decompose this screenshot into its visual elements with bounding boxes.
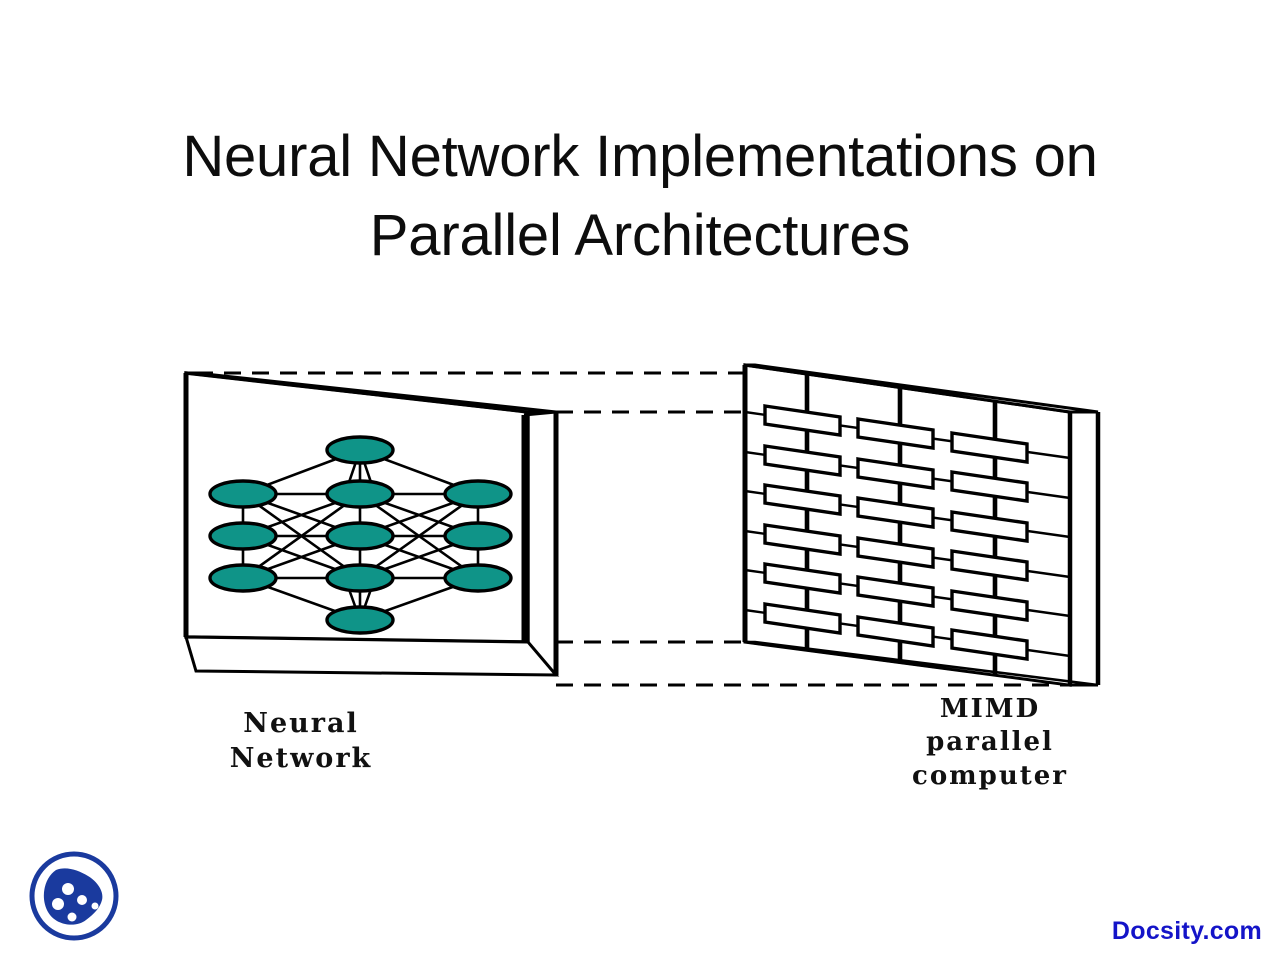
nn-panel-bottom-face xyxy=(186,637,556,675)
docsity-logo-icon xyxy=(26,848,122,944)
page-title-line-1: Neural Network Implementations on xyxy=(140,118,1140,197)
nn-node-top xyxy=(327,437,393,463)
logo-dot-5 xyxy=(92,903,99,910)
nn-node-mid-3 xyxy=(327,565,393,591)
nn-caption-line-2: Network xyxy=(230,743,373,774)
logo-dot-2 xyxy=(52,898,64,910)
nn-node-mid-2 xyxy=(327,523,393,549)
nn-node-left-1 xyxy=(210,481,276,507)
nn-node-left-3 xyxy=(210,565,276,591)
nn-node-right-3 xyxy=(445,565,511,591)
nn-node-bottom xyxy=(327,607,393,633)
nn-node-right-2 xyxy=(445,523,511,549)
neural-network-panel xyxy=(186,373,556,675)
page-title: Neural Network Implementations on Parall… xyxy=(140,118,1140,276)
logo-dot-4 xyxy=(68,913,77,922)
nn-node-left-2 xyxy=(210,523,276,549)
logo-dot-1 xyxy=(62,883,74,895)
mimd-panel-edge-caps xyxy=(1070,412,1098,685)
neural-network-caption: NeuralNetwork xyxy=(176,707,426,776)
page-title-line-2: Parallel Architectures xyxy=(140,197,1140,276)
mimd-caption-line-2: parallel xyxy=(926,727,1054,757)
logo-dot-3 xyxy=(77,895,87,905)
nn-node-right-1 xyxy=(445,481,511,507)
docsity-logo[interactable] xyxy=(26,848,122,944)
mimd-caption-line-3: computer xyxy=(912,761,1068,791)
mimd-caption: MIMDparallelcomputer xyxy=(845,693,1135,793)
mimd-caption-line-1: MIMD xyxy=(940,694,1040,724)
docsity-wordmark[interactable]: Docsity.com xyxy=(1112,917,1262,946)
mimd-panel xyxy=(745,365,1098,685)
nn-caption-line-1: Neural xyxy=(243,708,358,739)
nn-node-mid-1 xyxy=(327,481,393,507)
